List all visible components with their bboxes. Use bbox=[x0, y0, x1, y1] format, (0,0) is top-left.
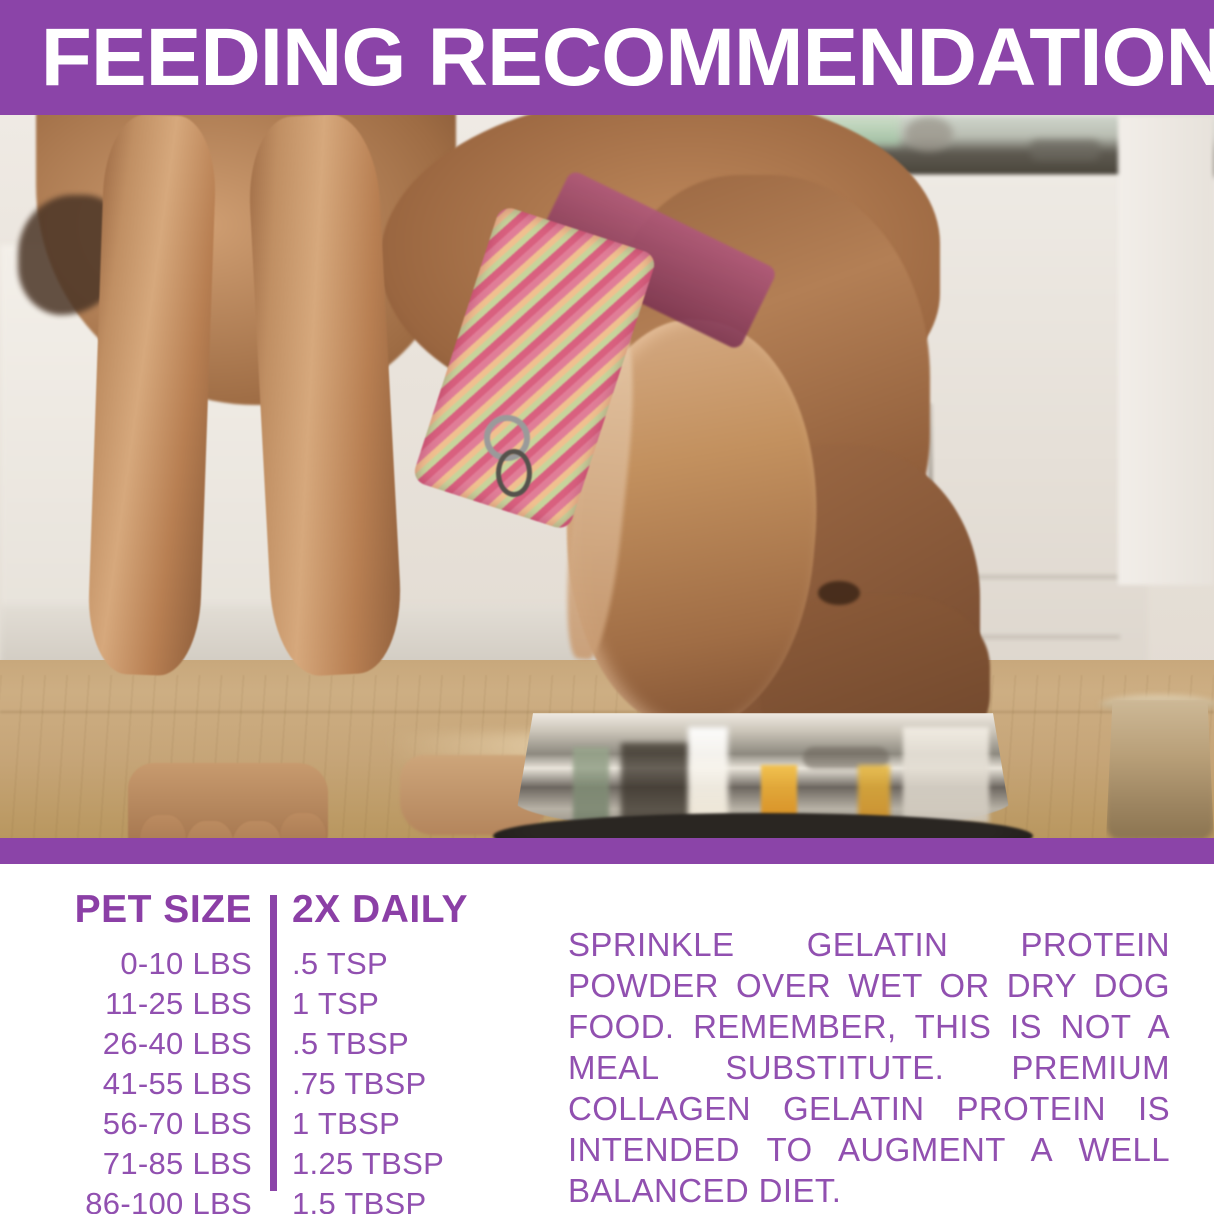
collar-ring-lower bbox=[496, 449, 532, 497]
bowl-reflection-amber-2 bbox=[858, 765, 890, 821]
page-title: FEEDING RECOMMENDATION bbox=[0, 17, 1214, 99]
second-bowl bbox=[1106, 700, 1214, 838]
cell-dosage: .5 TBSP bbox=[292, 1026, 522, 1061]
table-row: 86-100 LBS 1.5 TBSP bbox=[0, 1186, 520, 1214]
table-row: 41-55 LBS .75 TBSP bbox=[0, 1066, 520, 1101]
cell-pet-size: 0-10 LBS bbox=[0, 946, 252, 981]
feeding-table: PET SIZE 2X DAILY 0-10 LBS .5 TSP 11-25 … bbox=[0, 864, 520, 1214]
table-row: 0-10 LBS .5 TSP bbox=[0, 946, 520, 981]
table-row: 11-25 LBS 1 TSP bbox=[0, 986, 520, 1021]
bottom-content: PET SIZE 2X DAILY 0-10 LBS .5 TSP 11-25 … bbox=[0, 864, 1214, 1214]
feeding-recommendation-page: FEEDING RECOMMENDATION bbox=[0, 0, 1214, 1214]
cell-dosage: .5 TSP bbox=[292, 946, 522, 981]
cell-dosage: .75 TBSP bbox=[292, 1066, 522, 1101]
dog-front-leg-left bbox=[86, 115, 217, 677]
bowl-reflection-white bbox=[903, 727, 989, 823]
bowl-reflection-green bbox=[573, 747, 609, 821]
wall-right-panel bbox=[1118, 115, 1214, 585]
cell-pet-size: 56-70 LBS bbox=[0, 1106, 252, 1141]
hero-photo-dog-eating bbox=[0, 115, 1214, 838]
bowl-highlight bbox=[688, 727, 728, 823]
bowl-reflection-dark bbox=[621, 743, 691, 821]
table-header-row: PET SIZE 2X DAILY bbox=[0, 888, 520, 936]
purple-divider-bar bbox=[0, 838, 1214, 864]
cell-dosage: 1.25 TBSP bbox=[292, 1146, 522, 1181]
dog-eye bbox=[818, 581, 860, 605]
cell-dosage: 1 TBSP bbox=[292, 1106, 522, 1141]
table-row: 26-40 LBS .5 TBSP bbox=[0, 1026, 520, 1061]
cell-pet-size: 71-85 LBS bbox=[0, 1146, 252, 1181]
table-row: 56-70 LBS 1 TBSP bbox=[0, 1106, 520, 1141]
cell-dosage: 1 TSP bbox=[292, 986, 522, 1021]
table-row: 71-85 LBS 1.25 TBSP bbox=[0, 1146, 520, 1181]
usage-instructions: SPRINKLE GELATIN PROTEIN POWDER OVER WET… bbox=[568, 924, 1170, 1211]
countertop-object-bar bbox=[1030, 140, 1100, 160]
cell-pet-size: 11-25 LBS bbox=[0, 986, 252, 1021]
cell-pet-size: 26-40 LBS bbox=[0, 1026, 252, 1061]
header-banner: FEEDING RECOMMENDATION bbox=[0, 0, 1214, 115]
countertop-object-round bbox=[905, 117, 953, 151]
cell-pet-size: 41-55 LBS bbox=[0, 1066, 252, 1101]
column-header-dosage: 2X DAILY bbox=[292, 888, 468, 932]
cell-dosage: 1.5 TBSP bbox=[292, 1186, 522, 1214]
cell-pet-size: 86-100 LBS bbox=[0, 1186, 252, 1214]
column-header-pet-size: PET SIZE bbox=[75, 888, 252, 932]
dog-food-bowl bbox=[493, 713, 1033, 838]
